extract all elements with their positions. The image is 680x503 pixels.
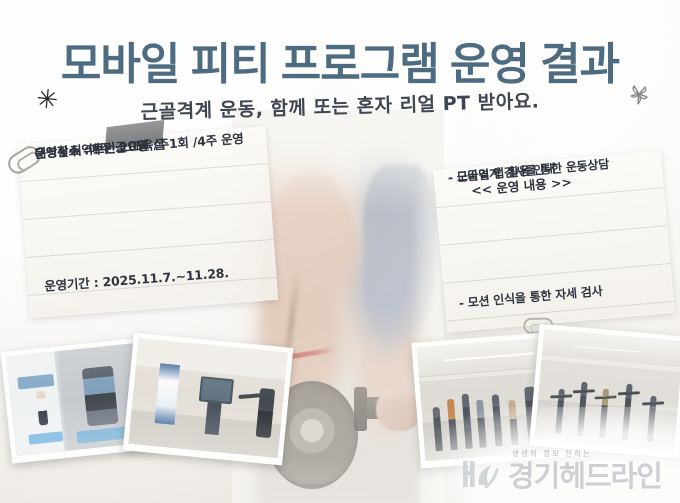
poster-title: 모바일 피티 프로그램 운영 결과: [0, 28, 680, 92]
monitor-stand: [205, 402, 221, 435]
watermark: 생생히 정보 전하는 경기헤드라인: [461, 457, 662, 491]
program-content-card: << 운영 내용 >> - 모션 인식을 통한 자세 검사 - 근골격계 검사를…: [433, 150, 674, 332]
photo-health-center-kiosk: [123, 333, 294, 466]
info-row-period: 운영기간 : 2025.11.7.~11.28.: [44, 262, 230, 294]
photo-group-exercise: [529, 324, 680, 459]
info-row-location: 운영장소 : 보건소 교육실: [34, 134, 165, 162]
participant-figure: [35, 391, 48, 426]
participants-group: [535, 371, 680, 445]
watermark-text: 생생히 정보 전하는 경기헤드라인: [508, 462, 662, 491]
ceiling-lights: [542, 329, 680, 367]
photo-content: [128, 338, 287, 458]
poster-canvas: 모바일 피티 프로그램 운영 결과 근골격계 운동, 함께 또는 혼자 리얼 P…: [0, 0, 680, 503]
watermark-tagline: 생생히 정보 전하는: [512, 448, 592, 459]
watermark-brand-name: 경기헤드라인: [508, 462, 662, 491]
program-info-card: 운영기간 : 2025.11.7.~11.28. 운영횟수 :매주 금요일 /주…: [18, 126, 278, 318]
roll-up-banner: [154, 364, 179, 425]
logo-mark-icon: [461, 457, 501, 491]
photo-content: [535, 329, 680, 451]
content-item-posture-check: - 모션 인식을 통한 자세 검사: [458, 282, 603, 311]
flower-icon: [626, 80, 652, 108]
asterisk-icon: ✳: [35, 87, 60, 115]
instructor-figure: [256, 388, 276, 438]
display-monitor: [199, 376, 234, 404]
motion-capture-silhouette: [82, 366, 119, 427]
